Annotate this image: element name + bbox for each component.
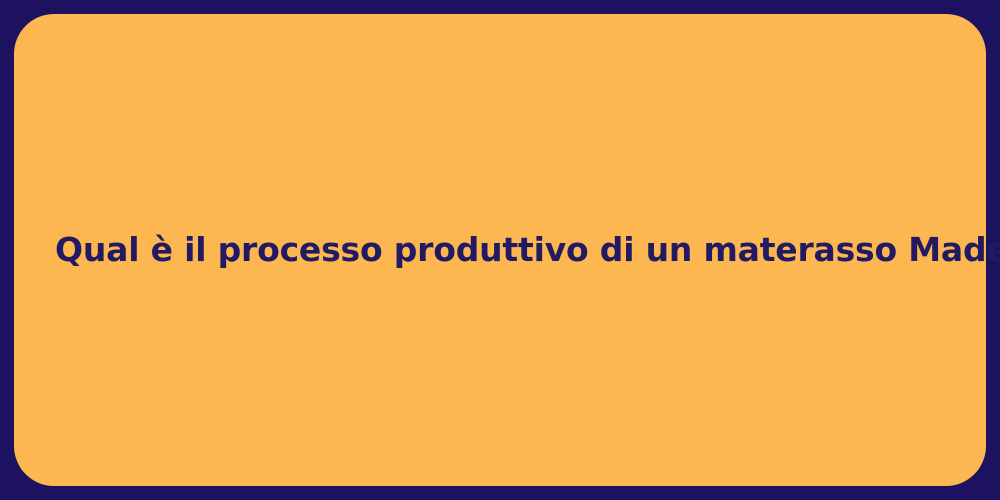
- question-card-panel: Qual è il processo produttivo di un mate…: [14, 14, 986, 486]
- question-heading: Qual è il processo produttivo di un mate…: [55, 229, 945, 270]
- question-card-frame: Qual è il processo produttivo di un mate…: [0, 0, 1000, 500]
